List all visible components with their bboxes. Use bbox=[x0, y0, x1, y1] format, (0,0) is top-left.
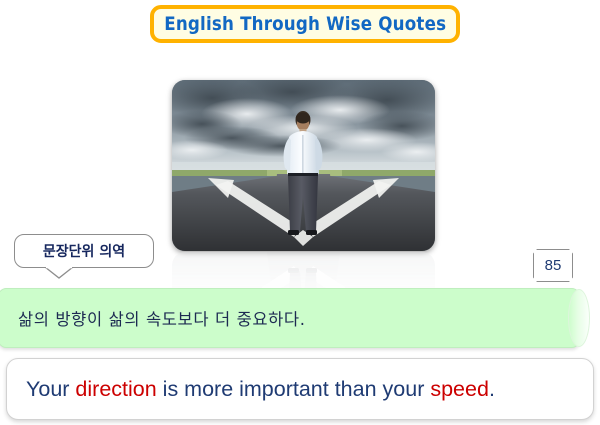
crossroads-photo bbox=[172, 80, 435, 251]
page-number-text: 85 bbox=[533, 249, 573, 282]
english-segment: is more important than your bbox=[157, 377, 431, 401]
page-number-badge: 85 bbox=[533, 249, 573, 282]
english-segment: . bbox=[489, 377, 495, 401]
illustration-figure bbox=[172, 80, 435, 251]
section-label-text: 문장단위 의역 bbox=[43, 241, 125, 261]
page-title: English Through Wise Quotes bbox=[164, 13, 446, 35]
english-highlight-speed: speed bbox=[430, 377, 489, 401]
cylinder-end-cap bbox=[568, 289, 590, 347]
english-highlight-direction: direction bbox=[75, 377, 156, 401]
section-label-bubble: 문장단위 의역 bbox=[14, 234, 154, 268]
english-sentence-text: Your direction is more important than yo… bbox=[7, 377, 495, 402]
crossroads-photo-graphic bbox=[172, 80, 435, 251]
lesson-title-banner: English Through Wise Quotes bbox=[150, 5, 460, 43]
korean-translation-text: 삶의 방향이 삶의 속도보다 더 중요하다. bbox=[18, 288, 306, 348]
english-sentence-box: Your direction is more important than yo… bbox=[6, 358, 594, 420]
korean-translation-bar: 삶의 방향이 삶의 속도보다 더 중요하다. bbox=[0, 288, 592, 348]
english-segment: Your bbox=[26, 377, 75, 401]
speech-bubble-tail-icon bbox=[44, 267, 74, 279]
